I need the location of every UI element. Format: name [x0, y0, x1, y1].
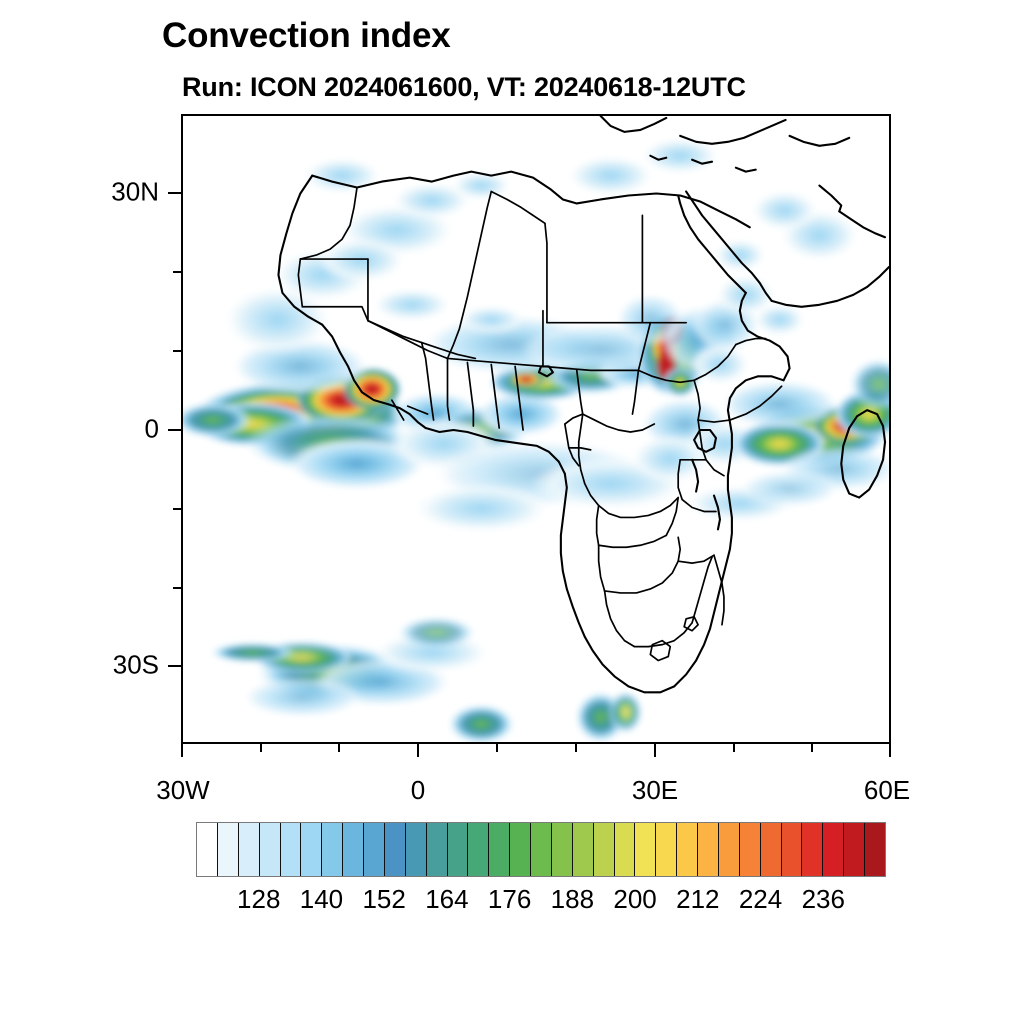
colorbar-cell-6 — [322, 823, 343, 876]
colorbar-cell-25 — [719, 823, 740, 876]
ylabel-0: 0 — [145, 414, 159, 445]
colorbar-cell-32 — [865, 823, 885, 876]
colorbar-cell-15 — [510, 823, 531, 876]
colorbar-label-200: 200 — [613, 884, 656, 915]
colorbar-labels: 128140152164176188200212224236 — [196, 884, 886, 920]
colorbar-cell-13 — [468, 823, 489, 876]
colorbar-cell-2 — [239, 823, 260, 876]
colorbar-label-224: 224 — [739, 884, 782, 915]
colorbar-cell-28 — [782, 823, 803, 876]
colorbar-cell-4 — [281, 823, 302, 876]
colorbar-cell-20 — [615, 823, 636, 876]
xtick-minor-10e — [496, 744, 498, 752]
colorbar-cell-23 — [677, 823, 698, 876]
convection-index-figure: Convection index Run: ICON 2024061600, V… — [0, 0, 1024, 1024]
xtick-minor-50e — [811, 744, 813, 752]
colorbar-label-128: 128 — [237, 884, 280, 915]
xlabel-0: 0 — [411, 775, 425, 806]
axis-ticks — [181, 114, 891, 744]
colorbar-label-212: 212 — [676, 884, 719, 915]
ylabel-30s: 30S — [113, 650, 159, 681]
colorbar[interactable] — [196, 822, 886, 877]
xtick-30e — [654, 744, 656, 757]
colorbar-cell-17 — [552, 823, 573, 876]
ylabel-30n: 30N — [111, 177, 159, 208]
colorbar-cell-7 — [343, 823, 364, 876]
xtick-minor-10w — [338, 744, 340, 752]
colorbar-label-176: 176 — [488, 884, 531, 915]
y-axis-labels: 30N 0 30S — [0, 114, 181, 744]
colorbar-cell-8 — [364, 823, 385, 876]
xlabel-30w: 30W — [156, 775, 209, 806]
colorbar-cell-10 — [406, 823, 427, 876]
colorbar-cell-14 — [489, 823, 510, 876]
xtick-0 — [417, 744, 419, 757]
xtick-minor-40e — [733, 744, 735, 752]
colorbar-cell-5 — [301, 823, 322, 876]
xtick-minor-20w — [260, 744, 262, 752]
colorbar-label-236: 236 — [802, 884, 845, 915]
colorbar-cell-1 — [218, 823, 239, 876]
colorbar-cell-22 — [656, 823, 677, 876]
colorbar-cell-31 — [844, 823, 865, 876]
colorbar-label-188: 188 — [551, 884, 594, 915]
colorbar-cell-26 — [740, 823, 761, 876]
colorbar-cell-19 — [594, 823, 615, 876]
colorbar-cell-11 — [427, 823, 448, 876]
page-title: Convection index — [162, 16, 451, 56]
colorbar-cell-12 — [448, 823, 469, 876]
xtick-minor-20e — [575, 744, 577, 752]
xlabel-30e: 30E — [632, 775, 678, 806]
colorbar-cell-9 — [385, 823, 406, 876]
colorbar-cell-27 — [761, 823, 782, 876]
colorbar-cell-24 — [698, 823, 719, 876]
xtick-30w — [181, 744, 183, 757]
xlabel-60e: 60E — [864, 775, 910, 806]
colorbar-cell-18 — [573, 823, 594, 876]
xtick-60e — [889, 744, 891, 757]
x-axis-labels: 30W 0 30E 60E — [181, 757, 891, 797]
colorbar-cell-0 — [197, 823, 218, 876]
colorbar-label-140: 140 — [300, 884, 343, 915]
run-valid-time-subtitle: Run: ICON 2024061600, VT: 20240618-12UTC — [182, 72, 746, 103]
colorbar-cell-21 — [635, 823, 656, 876]
colorbar-label-152: 152 — [362, 884, 405, 915]
colorbar-label-164: 164 — [425, 884, 468, 915]
colorbar-cell-30 — [823, 823, 844, 876]
colorbar-cell-3 — [260, 823, 281, 876]
colorbar-cell-16 — [531, 823, 552, 876]
colorbar-cell-29 — [802, 823, 823, 876]
